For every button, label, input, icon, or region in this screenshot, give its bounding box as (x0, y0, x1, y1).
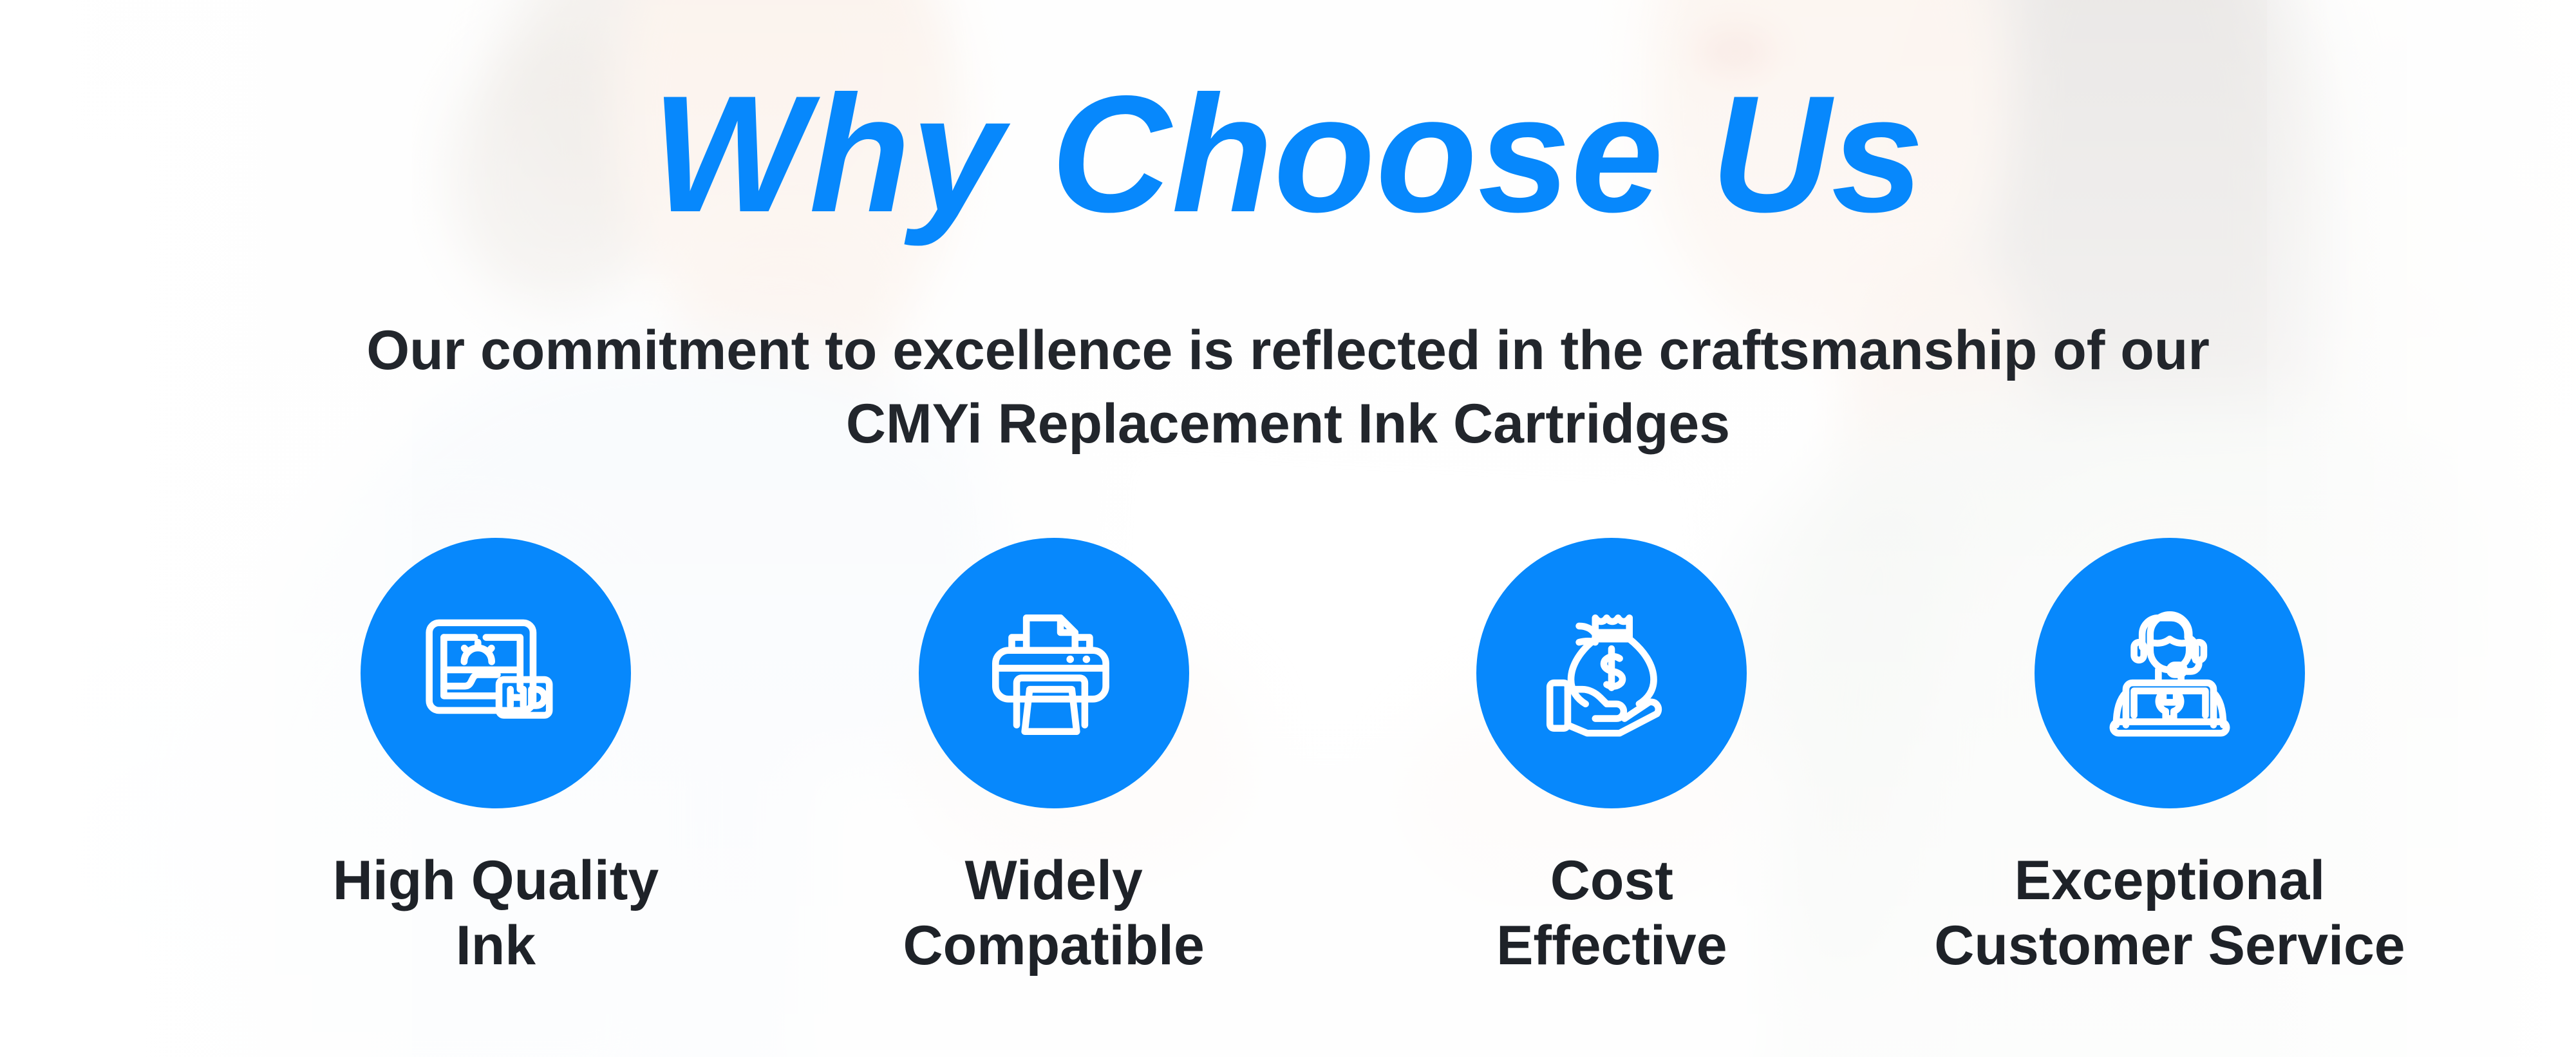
hand-holding-money-bag-icon (1530, 592, 1693, 754)
feature-item-high-quality-ink: High Quality Ink (251, 538, 740, 979)
icon-badge-widely-compatible (919, 538, 1189, 808)
feature-list: High Quality Ink (251, 538, 2414, 979)
page-subtitle: Our commitment to excellence is reflecte… (355, 314, 2222, 461)
feature-label-customer-service: Exceptional Customer Service (1934, 848, 2405, 979)
feature-item-widely-compatible: Widely Compatible (809, 538, 1299, 979)
printer-icon (973, 592, 1135, 754)
feature-label-widely-compatible: Widely Compatible (903, 848, 1205, 979)
page-title: Why Choose Us (0, 71, 2576, 237)
feature-label-high-quality-ink: High Quality Ink (333, 848, 659, 979)
banner-content: Why Choose Us Our commitment to excellen… (0, 0, 2576, 1057)
feature-label-cost-effective: Cost Effective (1496, 848, 1727, 979)
feature-item-cost-effective: Cost Effective (1367, 538, 1856, 979)
icon-badge-high-quality-ink (361, 538, 631, 808)
feature-item-customer-service: Exceptional Customer Service (1925, 538, 2414, 979)
hd-image-quality-icon (415, 592, 577, 754)
icon-badge-cost-effective (1476, 538, 1747, 808)
why-choose-us-banner: Why Choose Us Our commitment to excellen… (0, 0, 2576, 1057)
icon-badge-customer-service (2035, 538, 2305, 808)
support-agent-headset-laptop-icon (2089, 592, 2251, 754)
